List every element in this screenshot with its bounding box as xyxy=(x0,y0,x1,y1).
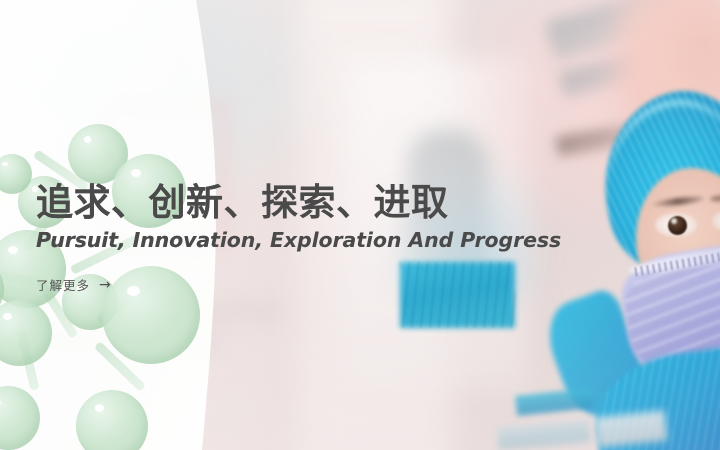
molecule-node xyxy=(0,300,52,366)
hero-banner: 追求、创新、探索、进取 Pursuit, Innovation, Explora… xyxy=(0,0,720,450)
molecule-node xyxy=(0,386,40,450)
photo-iris-highlight xyxy=(671,218,677,224)
photo-cyan-striations xyxy=(400,262,515,328)
learn-more-label: 了解更多 xyxy=(36,275,90,294)
molecule-structure-graphic xyxy=(0,118,230,450)
molecule-node xyxy=(76,390,148,450)
molecule-node xyxy=(102,266,200,364)
arrow-right-icon: → xyxy=(99,278,112,292)
learn-more-link[interactable]: 了解更多 → xyxy=(36,275,112,294)
